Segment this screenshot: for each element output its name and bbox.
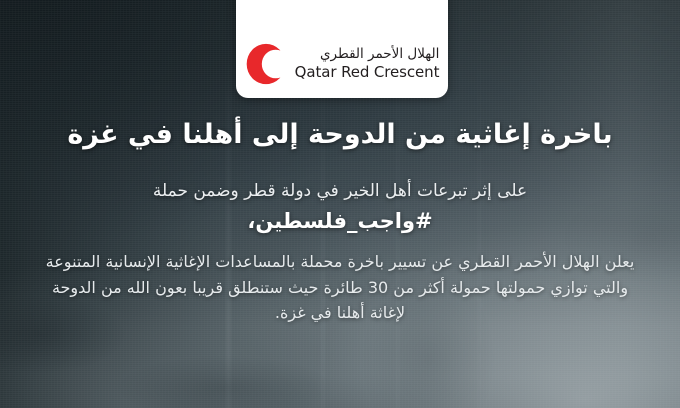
poster-content: الهلال الأحمر القطري Qatar Red Crescent … — [0, 0, 680, 408]
logo-lockup: الهلال الأحمر القطري Qatar Red Crescent — [245, 42, 440, 86]
logo-text-block: الهلال الأحمر القطري Qatar Red Crescent — [295, 48, 440, 80]
logo-arabic-name: الهلال الأحمر القطري — [320, 48, 439, 62]
subheadline: على إثر تبرعات أهل الخير في دولة قطر وضم… — [22, 179, 658, 204]
announcement-text-block: باخرة إغاثية من الدوحة إلى أهلنا في غزة … — [0, 118, 680, 326]
qatar-red-crescent-logo-card: الهلال الأحمر القطري Qatar Red Crescent — [236, 0, 448, 98]
headline: باخرة إغاثية من الدوحة إلى أهلنا في غزة — [22, 118, 658, 153]
relief-ship-announcement-poster: الهلال الأحمر القطري Qatar Red Crescent … — [0, 0, 680, 408]
logo-english-name: Qatar Red Crescent — [295, 65, 440, 80]
announcement-body: يعلن الهلال الأحمر القطري عن تسيير باخرة… — [22, 249, 658, 327]
campaign-hashtag: #واجب_فلسطين، — [22, 206, 658, 236]
red-crescent-icon — [245, 42, 287, 86]
